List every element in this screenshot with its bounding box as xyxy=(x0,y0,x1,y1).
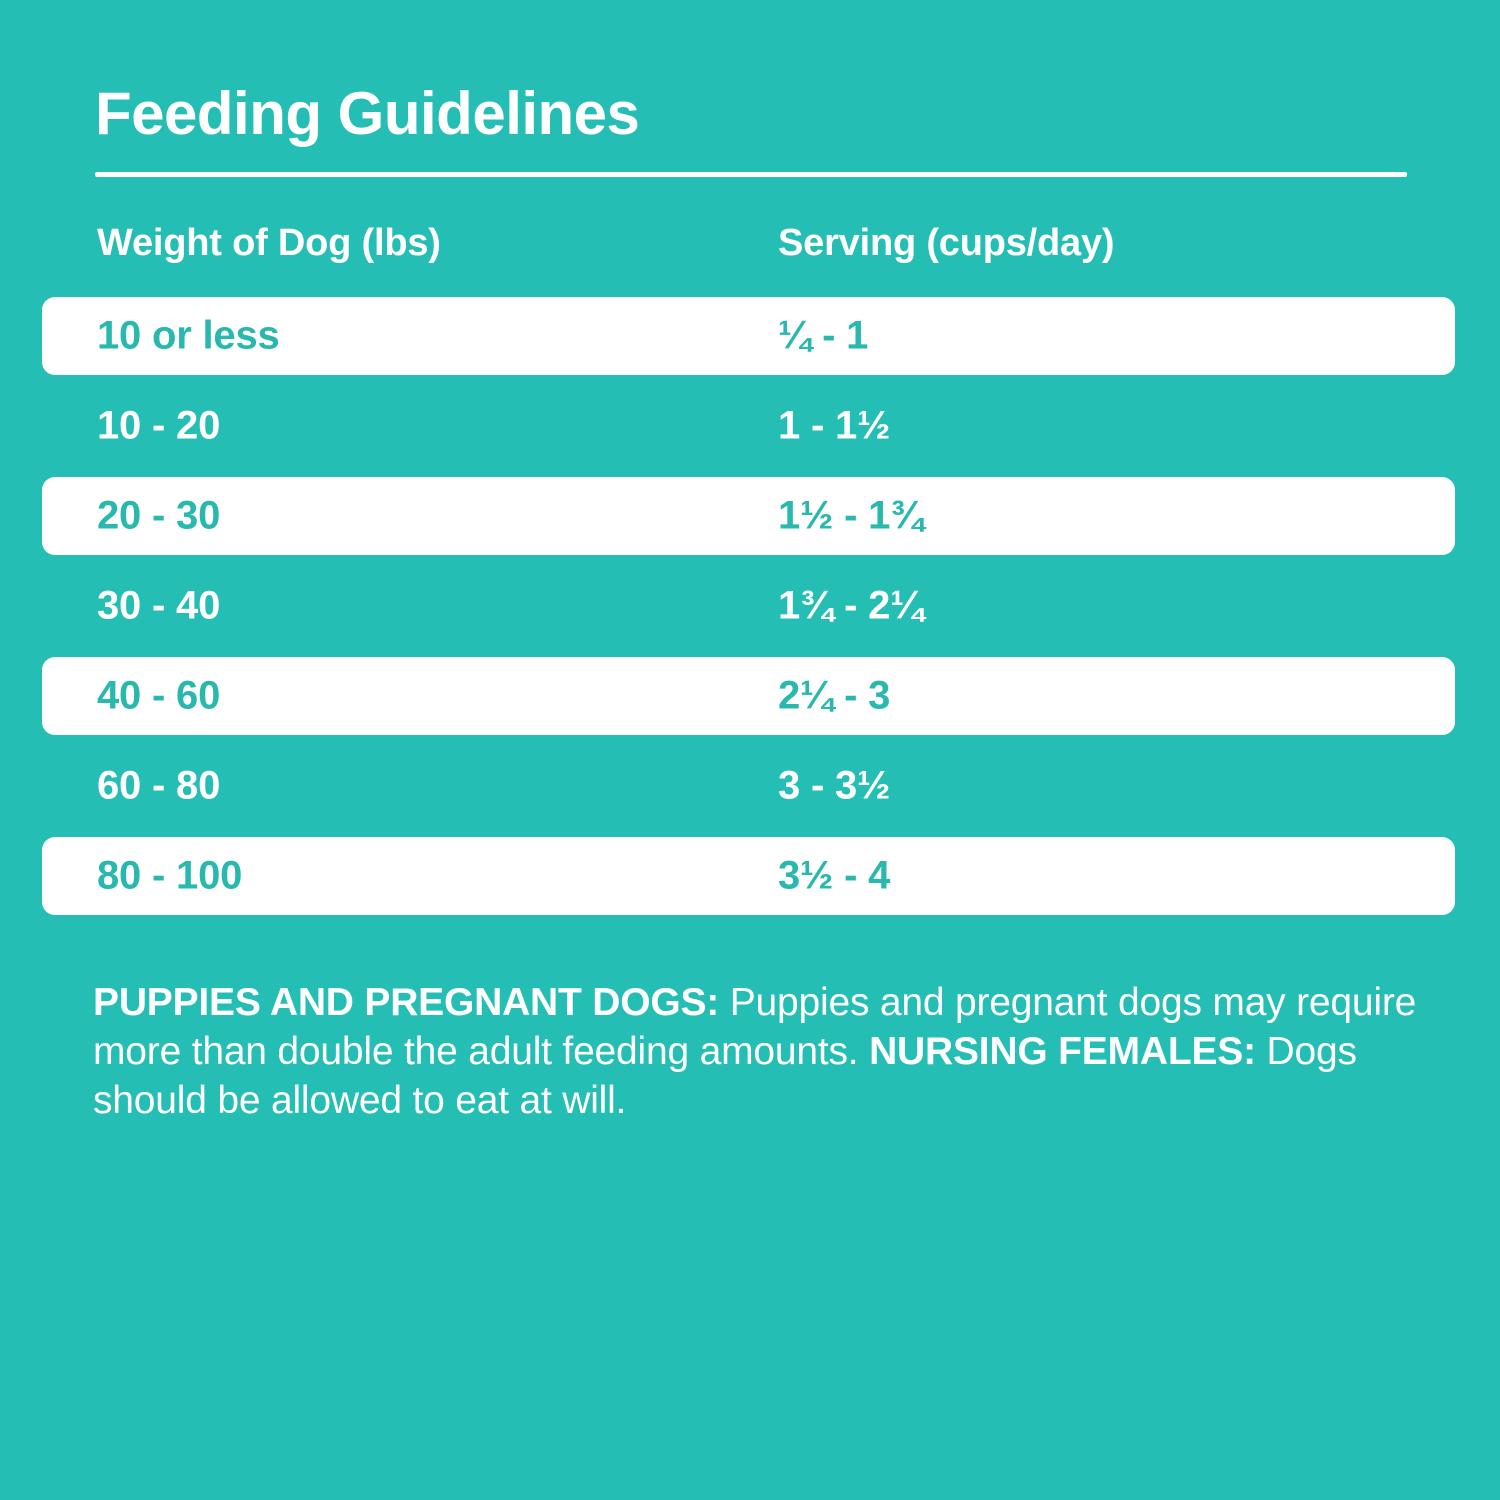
table-row: 60 - 803 - 3½ xyxy=(0,747,1500,825)
feeding-table: 10 or less¼ - 110 - 201 - 1½20 - 301½ - … xyxy=(0,297,1500,927)
feeding-guidelines-panel: Feeding Guidelines Weight of Dog (lbs) S… xyxy=(0,0,1500,1500)
column-header-weight: Weight of Dog (lbs) xyxy=(97,222,441,265)
table-row: 10 - 201 - 1½ xyxy=(0,387,1500,465)
row-background xyxy=(42,837,1455,915)
cell-weight: 20 - 30 xyxy=(97,494,220,539)
cell-weight: 10 - 20 xyxy=(97,404,220,449)
cell-serving: 3½ - 4 xyxy=(778,854,890,899)
cell-weight: 10 or less xyxy=(97,314,280,359)
table-column-headers: Weight of Dog (lbs) Serving (cups/day) xyxy=(0,222,1500,272)
cell-serving: 1 - 1½ xyxy=(778,404,890,449)
cell-serving: ¼ - 1 xyxy=(778,314,868,359)
table-row: 40 - 602¼ - 3 xyxy=(0,657,1500,735)
row-background xyxy=(42,567,1455,645)
table-row: 10 or less¼ - 1 xyxy=(0,297,1500,375)
table-row: 30 - 401¾ - 2¼ xyxy=(0,567,1500,645)
cell-weight: 60 - 80 xyxy=(97,764,220,809)
page-title: Feeding Guidelines xyxy=(95,82,639,145)
cell-weight: 30 - 40 xyxy=(97,584,220,629)
table-row: 20 - 301½ - 1¾ xyxy=(0,477,1500,555)
column-header-serving: Serving (cups/day) xyxy=(778,222,1114,265)
footnote-label-puppies: PUPPIES AND PREGNANT DOGS: xyxy=(93,981,719,1024)
title-divider xyxy=(95,172,1407,177)
cell-weight: 40 - 60 xyxy=(97,674,220,719)
footnote: PUPPIES AND PREGNANT DOGS: Puppies and p… xyxy=(93,978,1423,1125)
row-background xyxy=(42,657,1455,735)
footnote-label-nursing: NURSING FEMALES: xyxy=(869,1030,1256,1073)
cell-serving: 1½ - 1¾ xyxy=(778,494,923,539)
table-row: 80 - 1003½ - 4 xyxy=(0,837,1500,915)
cell-serving: 2¼ - 3 xyxy=(778,674,890,719)
row-background xyxy=(42,387,1455,465)
row-background xyxy=(42,747,1455,825)
cell-serving: 1¾ - 2¼ xyxy=(778,584,923,629)
cell-weight: 80 - 100 xyxy=(97,854,242,899)
cell-serving: 3 - 3½ xyxy=(778,764,890,809)
row-background xyxy=(42,477,1455,555)
